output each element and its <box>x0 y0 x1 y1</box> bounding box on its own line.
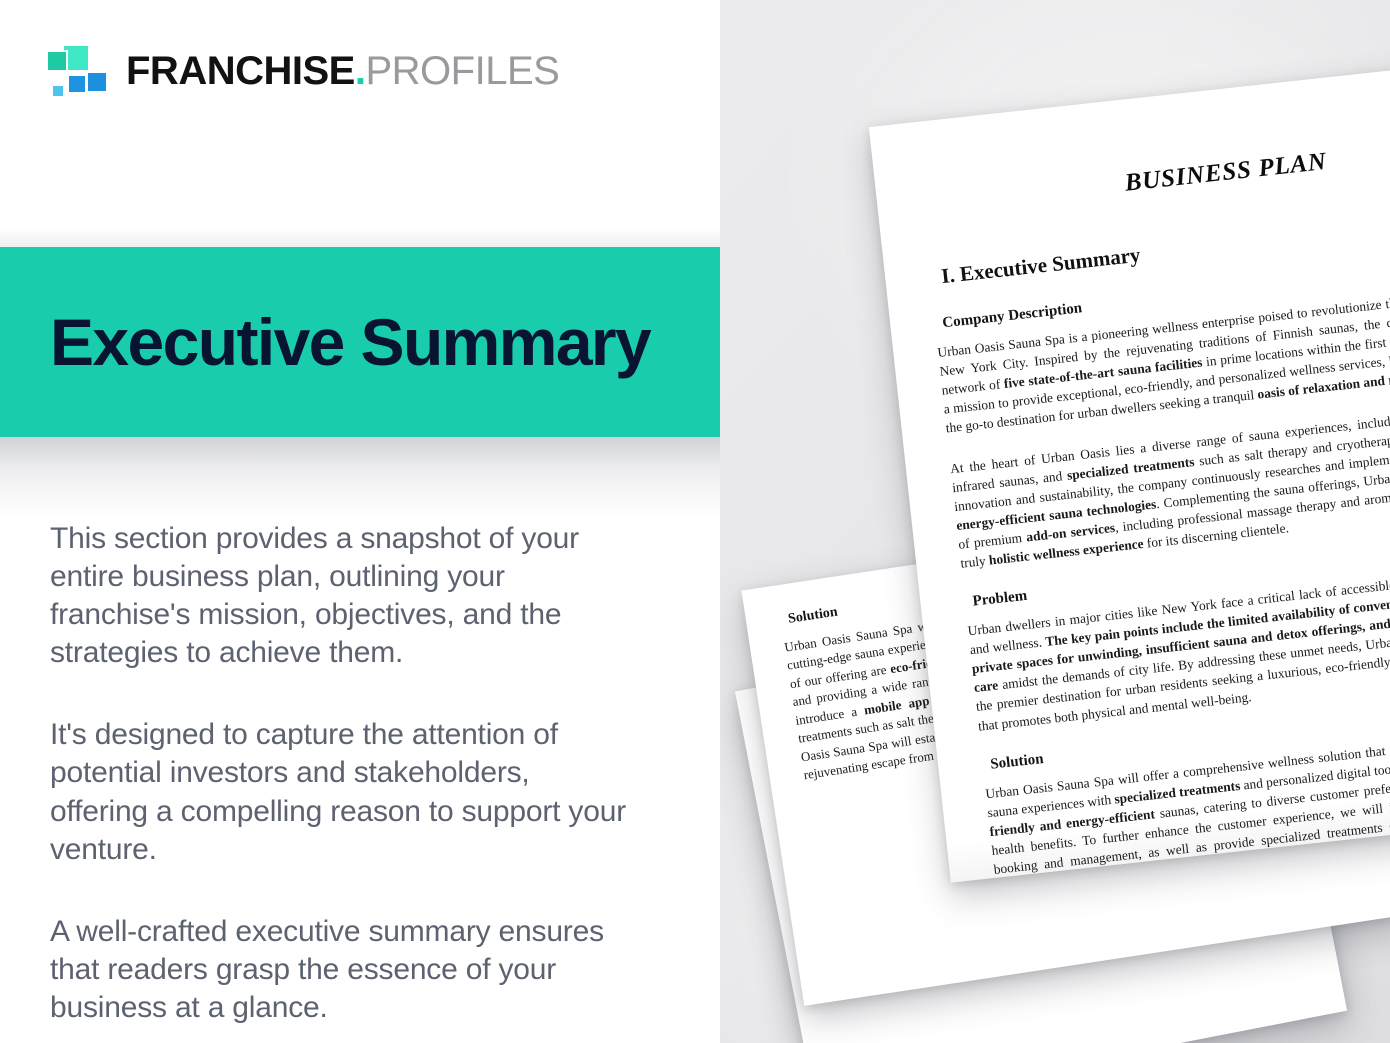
body-paragraph-2: It's designed to capture the attention o… <box>50 716 630 868</box>
logo-word-franchise: FRANCHISE <box>126 49 355 93</box>
logo-dot: . <box>355 49 366 93</box>
brand-logo[interactable]: FRANCHISE.PROFILES <box>46 44 559 98</box>
body-paragraph-3: A well-crafted executive summary ensures… <box>50 913 630 1027</box>
document-title: BUSINESS PLAN <box>920 126 1390 220</box>
logo-square-teal-dark-icon <box>46 50 68 72</box>
logo-square-blue-right-icon <box>86 71 108 93</box>
logo-squares-icon <box>46 44 108 98</box>
document-section-company-description: Company Description Urban Oasis Sauna Sp… <box>934 250 1390 573</box>
page-title: Executive Summary <box>0 309 650 375</box>
logo-square-blue-light-icon <box>51 84 65 98</box>
executive-summary-banner: Executive Summary <box>0 247 720 437</box>
logo-word-profiles: PROFILES <box>365 49 559 93</box>
body-paragraph-1: This section provides a snapshot of your… <box>50 520 630 672</box>
logo-square-blue-mid-icon <box>67 74 87 94</box>
logo-wordmark: FRANCHISE.PROFILES <box>126 51 559 91</box>
document-stack: Solution Urban Oasis Sauna Spa will offe… <box>720 0 1390 1043</box>
slide-root: Solution Urban Oasis Sauna Spa will offe… <box>0 0 1390 1043</box>
body-copy: This section provides a snapshot of your… <box>50 520 630 1027</box>
document-page-front: BUSINESS PLAN I. Executive Summary Compa… <box>869 52 1390 883</box>
